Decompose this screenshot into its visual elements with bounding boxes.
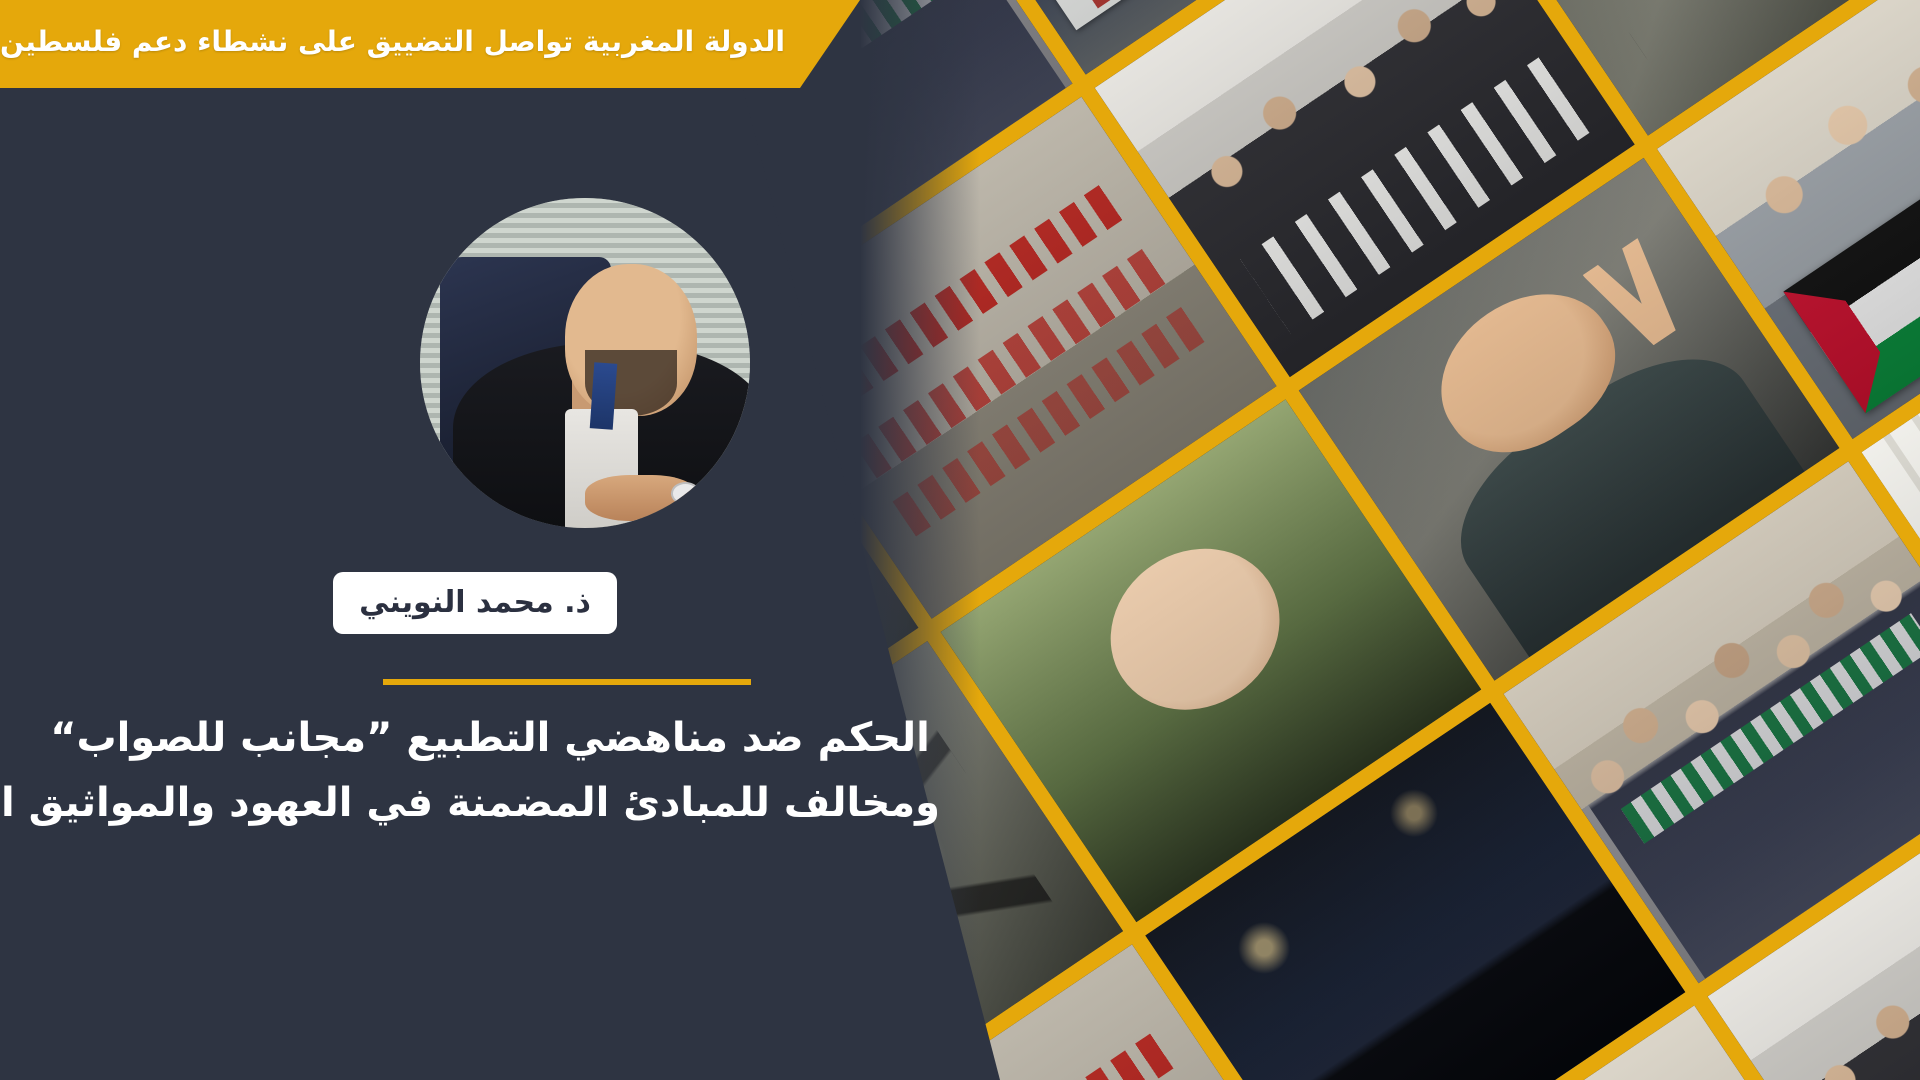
photo-collage: فلسطين لا لا للتطبيع	[860, 0, 1920, 1080]
speaker-name: ذ. محمد النويني	[359, 588, 591, 618]
accent-divider	[383, 679, 751, 685]
headline-block: الحكم ضد مناهضي التطبيع ”مجانب للصواب“ و…	[0, 706, 980, 836]
collage-mosaic: فلسطين لا لا للتطبيع	[860, 0, 1920, 1080]
header-ribbon: الدولة المغربية تواصل التضييق على نشطاء …	[0, 0, 860, 88]
portrait-necktie	[589, 362, 617, 429]
portrait-wristwatch	[671, 482, 701, 505]
headline-line-1: الحكم ضد مناهضي التطبيع ”مجانب للصواب“	[40, 706, 940, 771]
poster-canvas: فلسطين لا لا للتطبيع	[0, 0, 1920, 1080]
header-title: الدولة المغربية تواصل التضييق على نشطاء …	[0, 28, 785, 56]
speaker-name-badge: ذ. محمد النويني	[333, 572, 617, 634]
speaker-portrait	[420, 198, 750, 528]
headline-line-2: ومخالف للمبادئ المضمنة في العهود والمواث…	[40, 771, 940, 836]
